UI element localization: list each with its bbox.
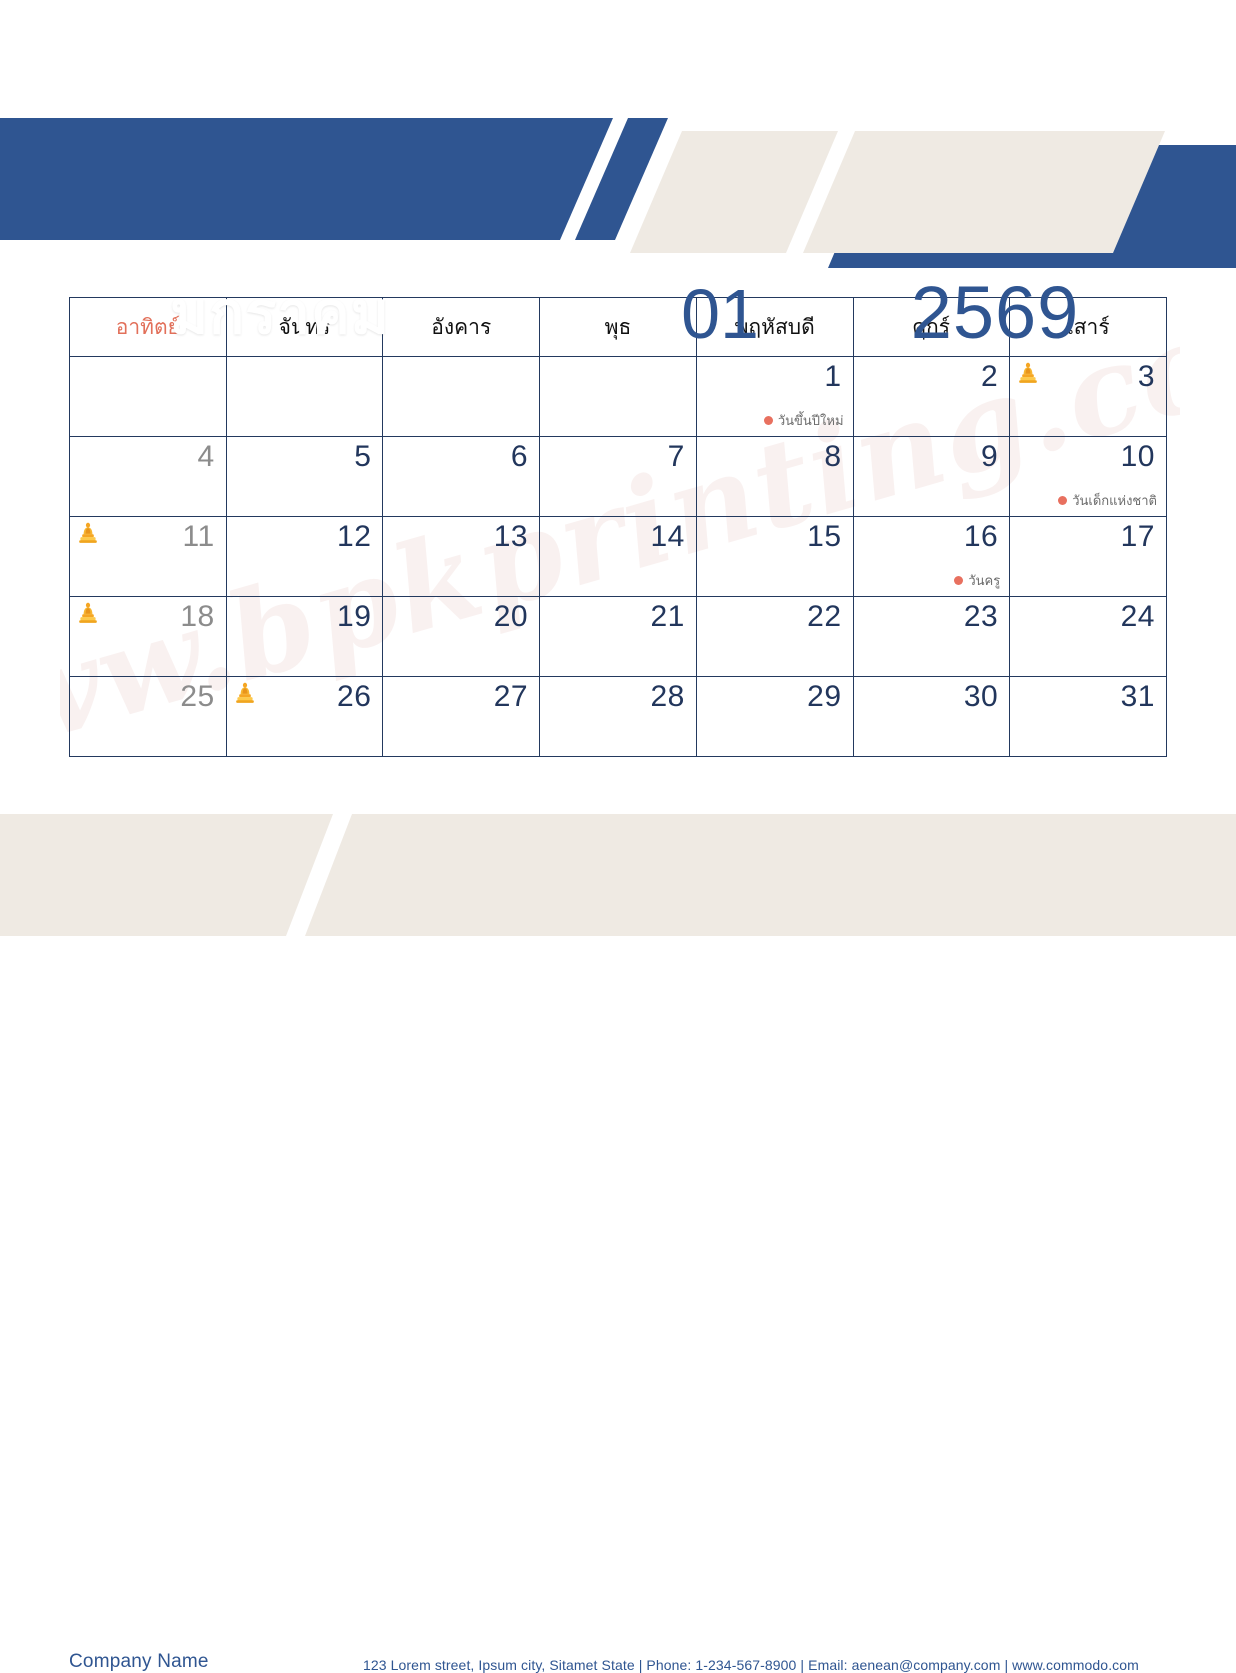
calendar-page: www.bpkprinting.com มกราคม 01 2569 อาทิต… [0, 0, 1236, 936]
day-cell-content: 21 [540, 597, 696, 676]
calendar-footer: Company Name 123 Lorem street, Ipsum cit… [0, 806, 1236, 936]
day-cell-content: 28 [540, 677, 696, 756]
day-number: 22 [807, 600, 841, 633]
calendar-day-cell[interactable]: 15 [696, 517, 853, 597]
day-number: 10 [1121, 440, 1155, 473]
day-cell-content: 22 [697, 597, 853, 676]
day-number: 21 [650, 600, 684, 633]
calendar-day-cell[interactable]: 12 [226, 517, 383, 597]
day-number: 11 [183, 520, 215, 553]
calendar-day-cell[interactable]: 6 [383, 437, 540, 517]
buddha-icon [235, 682, 255, 706]
day-cell-content: 25 [70, 677, 226, 756]
holiday-note: วันขึ้นปีใหม่ [764, 410, 844, 431]
day-number: 6 [511, 440, 528, 473]
day-cell-content: 11 [70, 517, 226, 596]
day-cell-content: 14 [540, 517, 696, 596]
day-number: 4 [198, 440, 215, 473]
day-number: 3 [1138, 360, 1155, 393]
day-number: 15 [807, 520, 841, 553]
calendar-day-cell[interactable]: 16วันครู [853, 517, 1010, 597]
calendar-day-cell[interactable]: 31 [1010, 677, 1167, 757]
calendar-day-cell[interactable]: 7 [540, 437, 697, 517]
day-cell-content: 26 [227, 677, 383, 756]
day-number: 8 [824, 440, 841, 473]
day-cell-content: 9 [854, 437, 1010, 516]
calendar-day-cell[interactable]: 8 [696, 437, 853, 517]
day-cell-content: 31 [1010, 677, 1166, 756]
day-cell-content: 29 [697, 677, 853, 756]
day-number: 30 [964, 680, 998, 713]
day-number: 17 [1121, 520, 1155, 553]
day-cell-content: 20 [383, 597, 539, 676]
calendar-day-cell[interactable]: 23 [853, 597, 1010, 677]
calendar-day-cell[interactable]: 11 [70, 517, 227, 597]
calendar-day-cell[interactable]: 25 [70, 677, 227, 757]
holiday-dot-icon [1058, 496, 1067, 505]
calendar-day-cell[interactable]: 4 [70, 437, 227, 517]
day-number: 14 [650, 520, 684, 553]
buddha-icon [78, 522, 98, 546]
calendar-day-cell[interactable]: 24 [1010, 597, 1167, 677]
calendar-header: มกราคม 01 2569 [0, 118, 1236, 270]
day-number: 9 [981, 440, 998, 473]
day-cell-content: 4 [70, 437, 226, 516]
day-cell-content: 18 [70, 597, 226, 676]
holiday-label: วันขึ้นปีใหม่ [778, 410, 844, 431]
calendar-day-cell[interactable]: 29 [696, 677, 853, 757]
day-number: 28 [650, 680, 684, 713]
calendar-day-cell[interactable]: 21 [540, 597, 697, 677]
day-number: 1 [824, 360, 841, 393]
day-cell-content: 16วันครู [854, 517, 1010, 596]
day-cell-content: 12 [227, 517, 383, 596]
day-number: 18 [180, 600, 214, 633]
day-cell-content: 24 [1010, 597, 1166, 676]
calendar-day-cell[interactable]: 26 [226, 677, 383, 757]
day-cell-content: 8 [697, 437, 853, 516]
day-number: 7 [668, 440, 685, 473]
day-number: 5 [354, 440, 371, 473]
day-number: 25 [180, 680, 214, 713]
calendar-week-row: 18192021222324 [70, 597, 1167, 677]
day-cell-content: 19 [227, 597, 383, 676]
day-cell-content: 27 [383, 677, 539, 756]
company-name: Company Name [69, 1651, 209, 1673]
holiday-note: วันครู [954, 570, 1000, 591]
calendar-day-cell[interactable]: 22 [696, 597, 853, 677]
day-number: 27 [494, 680, 528, 713]
day-cell-content: 23 [854, 597, 1010, 676]
day-cell-content: 10วันเด็กแห่งชาติ [1010, 437, 1166, 516]
calendar-week-row: 111213141516วันครู17 [70, 517, 1167, 597]
calendar-day-cell[interactable]: 28 [540, 677, 697, 757]
calendar-day-cell[interactable]: 30 [853, 677, 1010, 757]
day-cell-content: 7 [540, 437, 696, 516]
buddha-icon [78, 602, 98, 626]
day-number: 23 [964, 600, 998, 633]
day-number: 24 [1121, 600, 1155, 633]
day-number: 20 [494, 600, 528, 633]
calendar-day-cell[interactable]: 13 [383, 517, 540, 597]
day-number: 12 [337, 520, 371, 553]
month-name: มกราคม [0, 236, 560, 388]
calendar-week-row: 45678910วันเด็กแห่งชาติ [70, 437, 1167, 517]
day-cell-content: 5 [227, 437, 383, 516]
holiday-dot-icon [764, 416, 773, 425]
calendar-day-cell[interactable]: 20 [383, 597, 540, 677]
calendar-day-cell[interactable]: 10วันเด็กแห่งชาติ [1010, 437, 1167, 517]
calendar-day-cell[interactable]: 17 [1010, 517, 1167, 597]
calendar-day-cell[interactable]: 5 [226, 437, 383, 517]
day-cell-content: 6 [383, 437, 539, 516]
day-number: 31 [1121, 680, 1155, 713]
holiday-dot-icon [954, 576, 963, 585]
month-number: 01 [630, 244, 810, 384]
day-cell-content: 17 [1010, 517, 1166, 596]
holiday-label: วันเด็กแห่งชาติ [1072, 490, 1157, 511]
holiday-label: วันครู [968, 570, 1000, 591]
contact-info: 123 Lorem street, Ipsum city, Sitamet St… [363, 1657, 1139, 1673]
day-number: 16 [964, 520, 998, 553]
calendar-day-cell[interactable]: 18 [70, 597, 227, 677]
day-number: 26 [337, 680, 371, 713]
day-number: 13 [494, 520, 528, 553]
day-cell-content: 30 [854, 677, 1010, 756]
calendar-body: 1วันขึ้นปีใหม่2345678910วันเด็กแห่งชาติ1… [70, 357, 1167, 757]
day-number: 29 [807, 680, 841, 713]
calendar-day-cell[interactable]: 19 [226, 597, 383, 677]
day-cell-content: 15 [697, 517, 853, 596]
day-cell-content: 13 [383, 517, 539, 596]
footer-shapes [0, 806, 1236, 936]
calendar-day-cell[interactable]: 9 [853, 437, 1010, 517]
calendar-day-cell[interactable]: 27 [383, 677, 540, 757]
calendar-day-cell[interactable]: 14 [540, 517, 697, 597]
day-number: 19 [337, 600, 371, 633]
calendar-week-row: 25262728293031 [70, 677, 1167, 757]
holiday-note: วันเด็กแห่งชาติ [1058, 490, 1157, 511]
year-number: 2569 [855, 242, 1135, 382]
